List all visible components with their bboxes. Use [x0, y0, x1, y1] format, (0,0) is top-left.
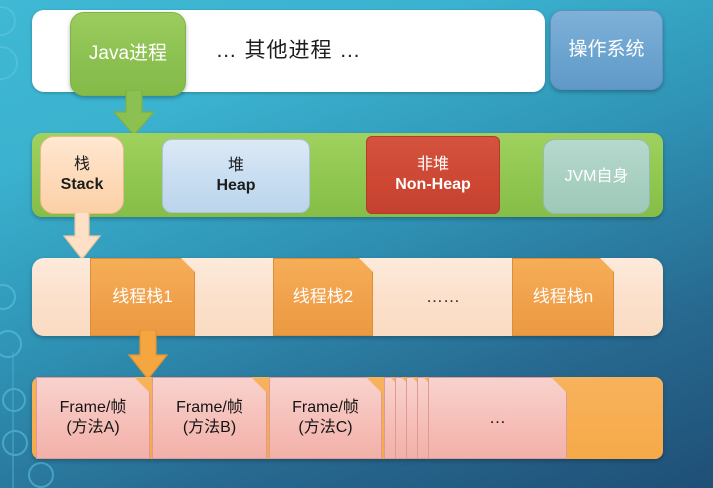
diagram-canvas: … 其他进程 … Java进程 操作系统 栈 Stack 堆 Heap 非堆 N… [0, 0, 713, 488]
frame-method-b[interactable]: Frame/帧 (方法B) [152, 377, 267, 459]
non-heap-label-en: Non-Heap [395, 175, 471, 195]
memory-area-heap[interactable]: 堆 Heap [162, 139, 310, 213]
arrow-java-process-to-memory [112, 90, 156, 136]
decorative-circle [28, 462, 54, 488]
thread-stack-n-label: 线程栈n [533, 287, 593, 308]
arrow-stack-to-thread-stacks [62, 212, 102, 260]
frame-a-line2: (方法A) [66, 418, 119, 438]
frame-method-c[interactable]: Frame/帧 (方法C) [269, 377, 382, 459]
arrow-thread-stack-to-frames [127, 330, 169, 380]
decorative-circle [2, 388, 26, 412]
stack-label-en: Stack [61, 175, 104, 195]
frame-method-a[interactable]: Frame/帧 (方法A) [36, 377, 150, 459]
non-heap-label-cn: 非堆 [417, 155, 449, 175]
frame-b-line2: (方法B) [183, 418, 236, 438]
frame-b-line1: Frame/帧 [176, 398, 243, 418]
frames-ellipsis: … [428, 377, 567, 459]
decorative-circle [0, 6, 16, 36]
memory-area-jvm-itself[interactable]: JVM自身 [543, 139, 650, 214]
thread-stacks-ellipsis: …… [381, 258, 501, 336]
jvm-itself-label: JVM自身 [564, 167, 628, 187]
decorative-circle [0, 330, 22, 358]
decorative-circle [0, 46, 18, 80]
memory-area-non-heap[interactable]: 非堆 Non-Heap [366, 136, 500, 214]
operating-system-box[interactable]: 操作系统 [550, 10, 663, 90]
heap-label-cn: 堆 [228, 156, 244, 176]
thread-stack-n[interactable]: 线程栈n [512, 258, 614, 336]
frame-a-line1: Frame/帧 [60, 398, 127, 418]
thread-stack-2[interactable]: 线程栈2 [273, 258, 373, 336]
decorative-line [12, 352, 14, 488]
stack-label-cn: 栈 [74, 155, 90, 175]
operating-system-label: 操作系统 [568, 38, 644, 61]
heap-label-en: Heap [216, 176, 255, 196]
frame-c-line1: Frame/帧 [292, 398, 359, 418]
thread-stack-2-label: 线程栈2 [293, 287, 353, 308]
memory-area-stack[interactable]: 栈 Stack [40, 136, 124, 214]
java-process-label: Java进程 [89, 42, 167, 65]
thread-stack-1-label: 线程栈1 [112, 287, 172, 308]
thread-stack-1[interactable]: 线程栈1 [90, 258, 195, 336]
java-process-box[interactable]: Java进程 [70, 12, 186, 96]
frame-c-line2: (方法C) [298, 418, 352, 438]
decorative-circle [0, 284, 16, 310]
decorative-circle [2, 430, 28, 456]
